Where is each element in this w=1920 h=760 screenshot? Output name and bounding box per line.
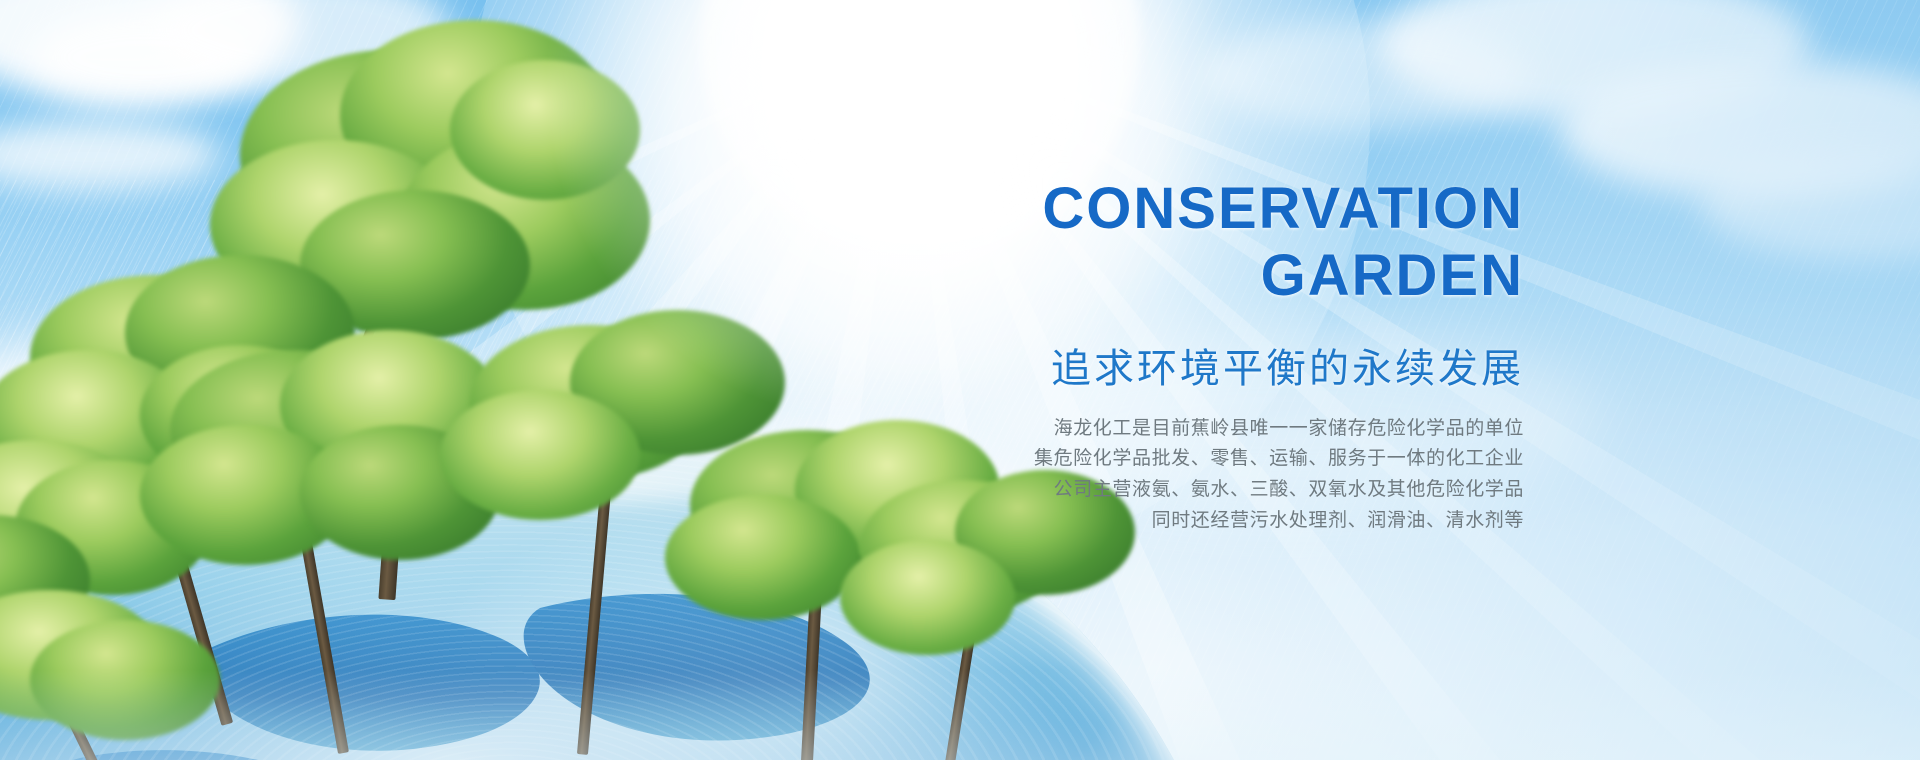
headline-line-1: CONSERVATION: [1042, 176, 1524, 241]
description-line: 公司主营液氨、氨水、三酸、双氧水及其他危险化学品: [764, 475, 1524, 506]
banner-headline: CONSERVATION GARDEN: [764, 175, 1524, 310]
description-line: 集危险化学品批发、零售、运输、服务于一体的化工企业: [764, 444, 1524, 475]
banner-tagline: 追求环境平衡的永续发展: [764, 336, 1524, 394]
tree-canopy: [450, 60, 640, 200]
banner-copy: CONSERVATION GARDEN 追求环境平衡的永续发展 海龙化工是目前蕉…: [764, 175, 1524, 537]
hero-banner: CONSERVATION GARDEN 追求环境平衡的永续发展 海龙化工是目前蕉…: [0, 0, 1920, 760]
tree-canopy: [440, 390, 640, 520]
description-line: 海龙化工是目前蕉岭县唯一一家储存危险化学品的单位: [764, 414, 1524, 445]
description-line: 同时还经营污水处理剂、润滑油、清水剂等: [764, 506, 1524, 537]
headline-line-2: GARDEN: [764, 242, 1524, 309]
tree-canopy: [30, 620, 220, 740]
banner-description: 海龙化工是目前蕉岭县唯一一家储存危险化学品的单位 集危险化学品批发、零售、运输、…: [764, 414, 1524, 537]
tree-canopy: [840, 540, 1015, 655]
